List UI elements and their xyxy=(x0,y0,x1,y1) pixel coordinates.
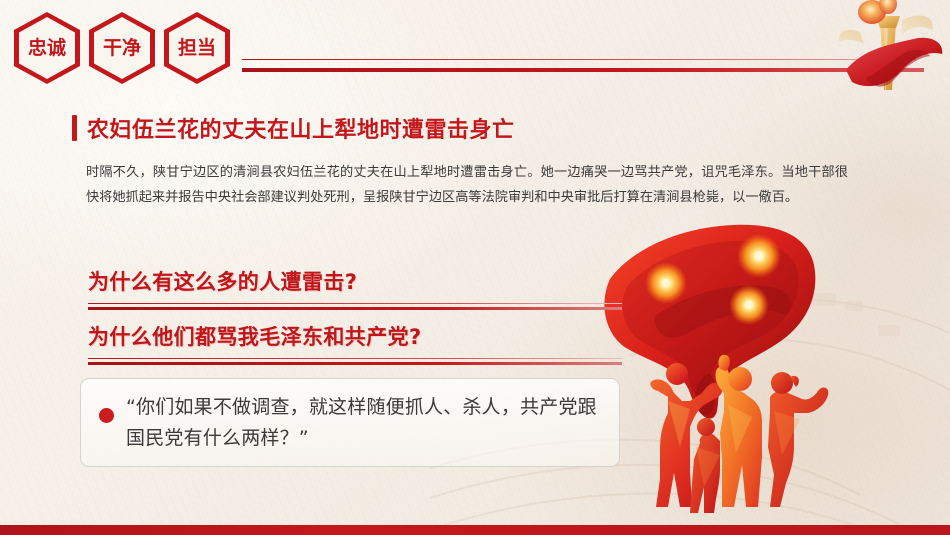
badge-dandang[interactable]: 担当 xyxy=(164,12,230,84)
rule-line-thick xyxy=(88,362,622,365)
rule-line-thin xyxy=(88,358,622,359)
badge-label: 担当 xyxy=(178,39,216,58)
title-text: 农妇伍兰花的丈夫在山上犁地时遭雷击身亡 xyxy=(87,112,515,144)
header-badge-group: 忠诚 干净 担当 xyxy=(14,12,230,84)
celebrating-people-silhouettes xyxy=(650,355,828,513)
question-heading-2: 为什么他们都骂我毛泽东和共产党? xyxy=(88,321,622,365)
torch-ribbon-icon xyxy=(830,0,948,92)
rule-line-thin xyxy=(88,303,622,304)
badge-zhongcheng[interactable]: 忠诚 xyxy=(14,12,80,84)
header-rule-thin xyxy=(242,59,916,60)
header-rule-thick xyxy=(242,68,924,72)
question-heading-1-rule xyxy=(88,303,622,310)
badge-ganjing[interactable]: 干净 xyxy=(89,12,155,84)
question-heading-2-rule xyxy=(88,358,622,365)
question-heading-2-text: 为什么他们都骂我毛泽东和共产党? xyxy=(88,321,622,351)
red-flag-with-celebrating-people xyxy=(594,221,944,521)
body-paragraph: 时隔不久，陕甘宁边区的清涧县农妇伍兰花的丈夫在山上犁地时遭雷击身亡。她一边痛哭一… xyxy=(86,160,848,210)
question-heading-1-text: 为什么有这么多的人遭雷击? xyxy=(88,266,622,296)
badge-label: 干净 xyxy=(103,39,141,58)
red-dot-icon xyxy=(99,408,114,423)
badge-label: 忠诚 xyxy=(28,39,66,58)
bottom-accent-bar xyxy=(0,525,950,535)
page-title: 农妇伍兰花的丈夫在山上犁地时遭雷击身亡 xyxy=(72,112,515,144)
rule-line-thick xyxy=(88,307,622,310)
flag-shape xyxy=(604,225,815,419)
title-accent-bar xyxy=(72,115,77,141)
quote-callout-box: “你们如果不做调查，就这样随便抓人、杀人，共产党跟国民党有什么两样？” xyxy=(80,378,620,467)
slide-root: 忠诚 干净 担当 xyxy=(0,0,950,535)
question-heading-1: 为什么有这么多的人遭雷击? xyxy=(88,266,622,310)
quote-text: “你们如果不做调查，就这样随便抓人、杀人，共产党跟国民党有什么两样？” xyxy=(126,392,603,454)
flag-star-lights xyxy=(645,234,781,325)
